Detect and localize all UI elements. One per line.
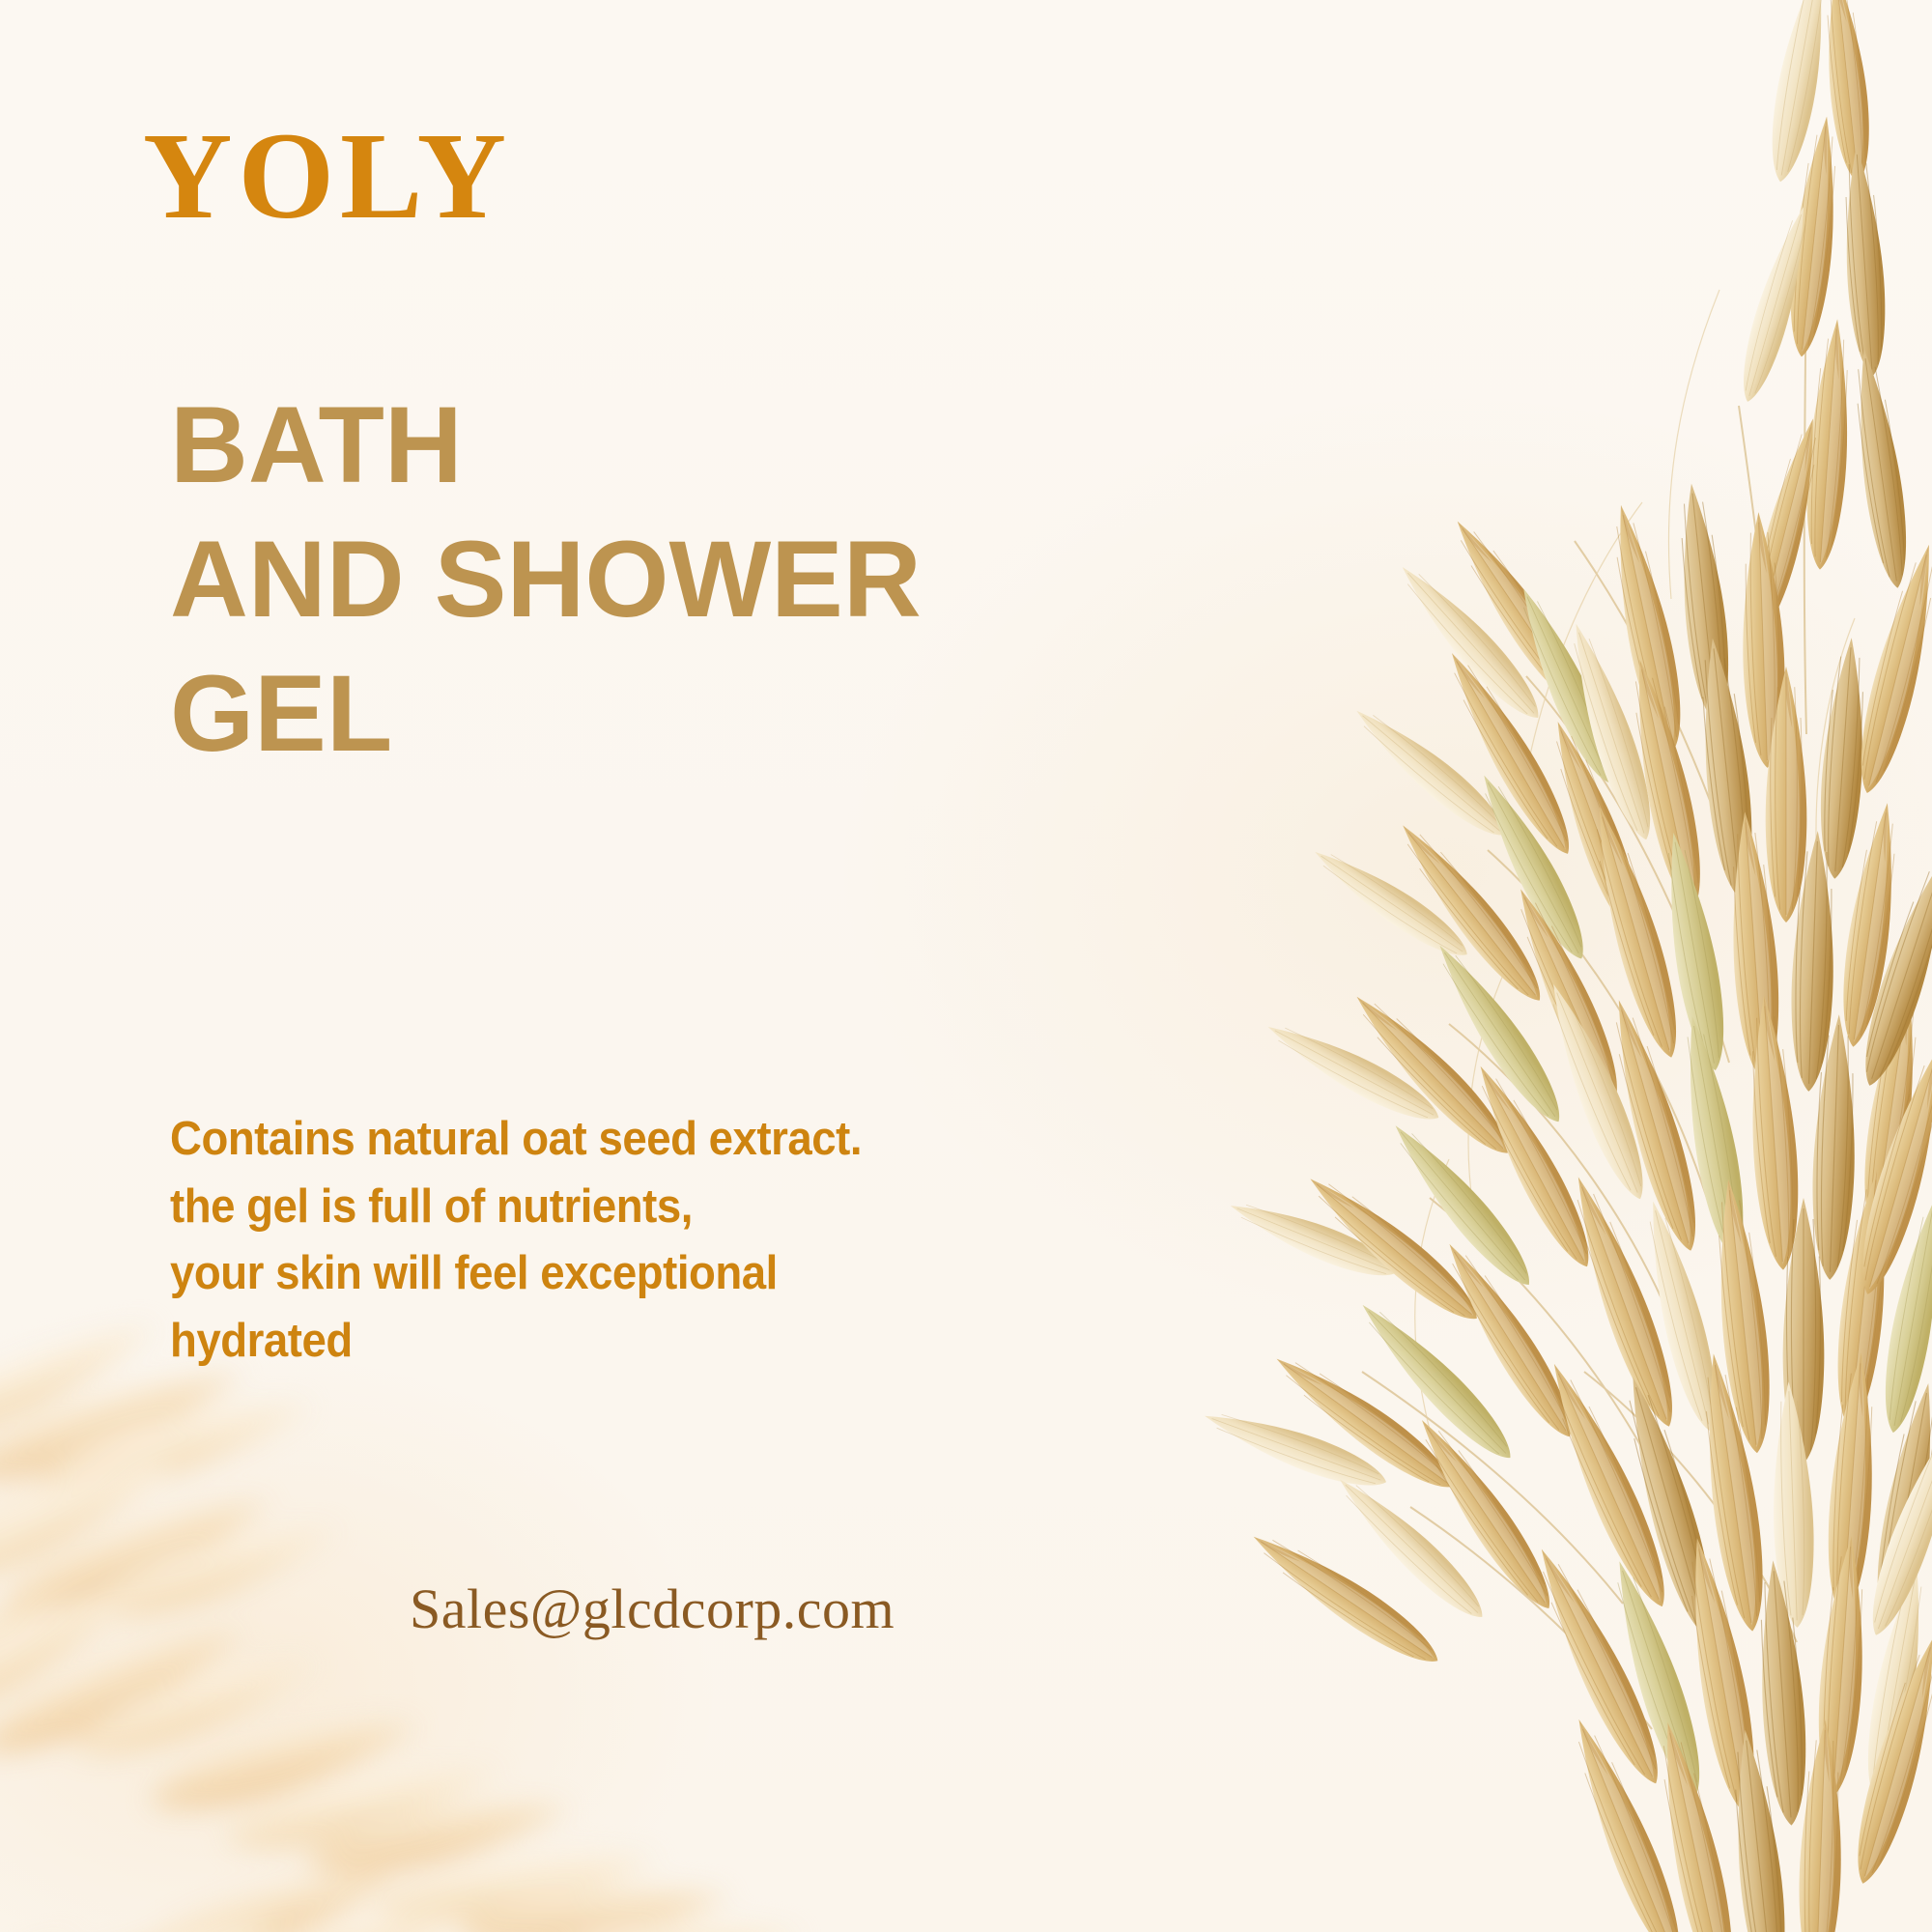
description-line-3: your skin will feel exceptional [170,1240,943,1308]
product-description: Contains natural oat seed extract. the g… [170,1106,943,1375]
background-wash [0,0,1932,1932]
page-title: BATH AND SHOWER GEL [170,379,962,781]
brand-logo: YOLY [143,114,512,238]
headline-line-1: BATH [170,379,962,513]
headline-line-2: AND SHOWER [170,513,962,647]
description-line-2: the gel is full of nutrients, [170,1174,943,1241]
contact-email[interactable]: Sales@glcdcorp.com [410,1577,895,1641]
description-line-4: hydrated [170,1308,943,1376]
poster-canvas: YOLY BATH AND SHOWER GEL Contains natura… [0,0,1932,1932]
description-line-1: Contains natural oat seed extract. [170,1106,943,1174]
headline-line-3: GEL [170,647,962,781]
